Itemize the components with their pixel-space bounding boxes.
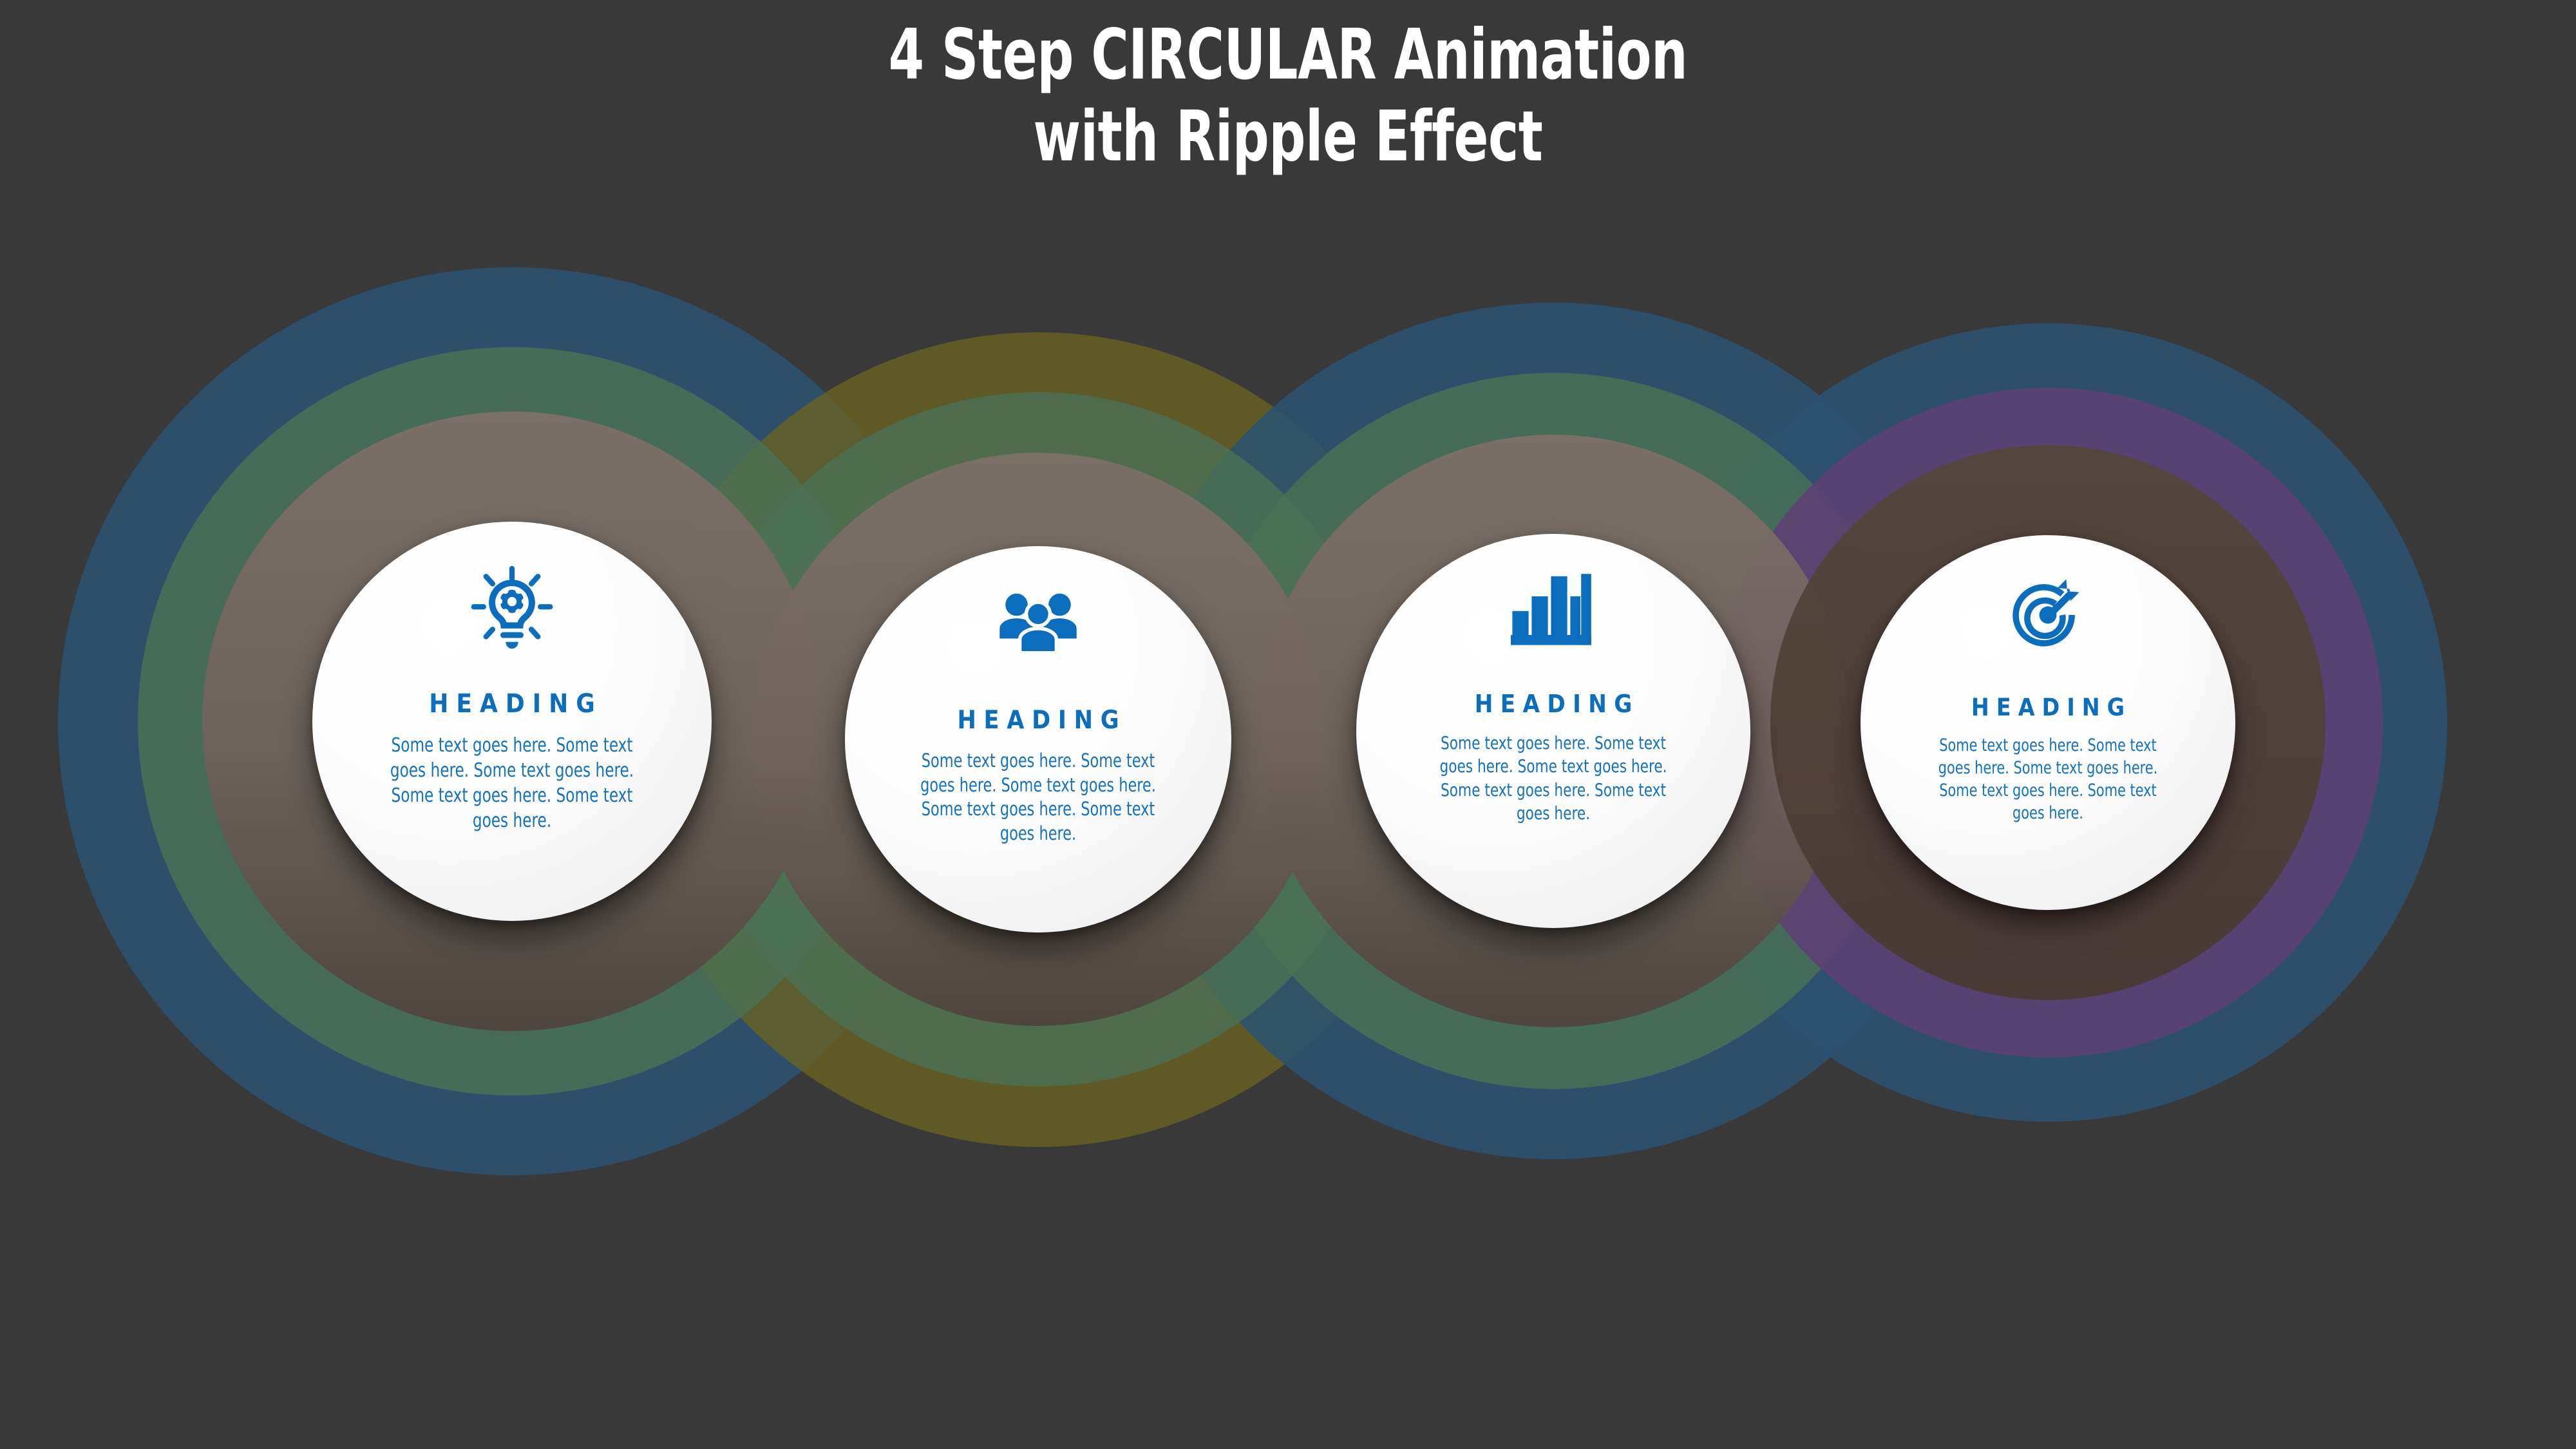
step-card-1[interactable]: HEADING Some text goes here. Some text g… — [312, 522, 712, 921]
people-group-icon — [995, 587, 1081, 659]
step-card-4[interactable]: HEADING Some text goes here. Some text g… — [1861, 535, 2235, 910]
step-card-4-heading: HEADING — [1964, 694, 2132, 721]
page-title-line-1: 4 Step CIRCULAR Animation — [232, 14, 2344, 96]
step-card-1-heading: HEADING — [421, 689, 602, 719]
step-card-2-heading: HEADING — [950, 706, 1126, 735]
step-card-3[interactable]: HEADING Some text goes here. Some text g… — [1356, 534, 1750, 928]
step-card-1-body: Some text goes here. Some text goes here… — [382, 733, 642, 833]
page-title-line-2: with Ripple Effect — [232, 96, 2344, 178]
step-card-3-body: Some text goes here. Some text goes here… — [1429, 732, 1677, 826]
bar-chart-icon — [1511, 574, 1596, 650]
step-card-4-body: Some text goes here. Some text goes here… — [1928, 734, 2168, 824]
step-card-2-body: Some text goes here. Some text goes here… — [913, 749, 1164, 846]
step-card-3-heading: HEADING — [1467, 690, 1639, 718]
step-card-2[interactable]: HEADING Some text goes here. Some text g… — [845, 546, 1231, 933]
lightbulb-gear-icon — [468, 564, 556, 653]
target-arrow-icon — [2007, 574, 2089, 656]
page-title: 4 Step CIRCULAR Animation with Ripple Ef… — [0, 14, 2576, 178]
infographic-stage: HEADING Some text goes here. Some text g… — [0, 0, 2576, 1449]
